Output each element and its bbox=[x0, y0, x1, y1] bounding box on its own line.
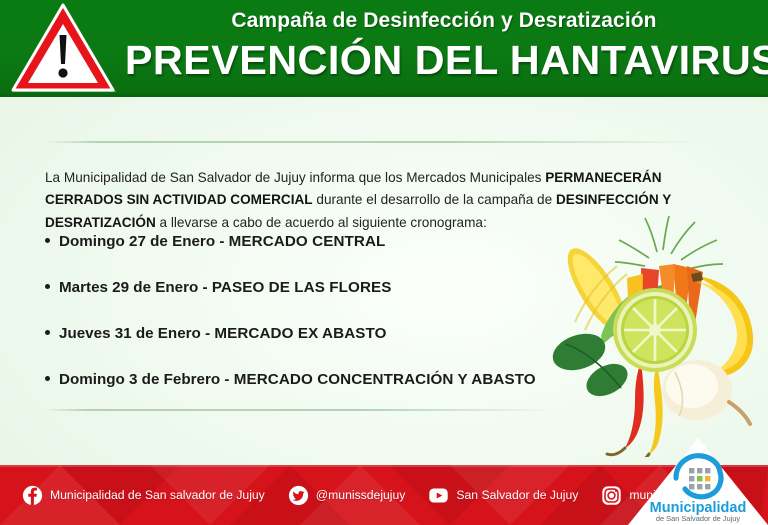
list-item: Domingo 27 de Enero - MERCADO CENTRAL bbox=[45, 233, 565, 279]
bullet-icon bbox=[45, 238, 50, 243]
divider-bottom bbox=[45, 409, 560, 411]
header-text-block: Campaña de Desinfección y Desratización … bbox=[128, 6, 760, 84]
header-title: PREVENCIÓN DEL HANTAVIRUS bbox=[125, 36, 763, 84]
social-label-facebook: Municipalidad de San salvador de Jujuy bbox=[50, 488, 265, 502]
social-link-twitter[interactable]: @munissdejujuy bbox=[288, 485, 406, 506]
social-label-youtube: San Salvador de Jujuy bbox=[456, 488, 578, 502]
poster-header: Campaña de Desinfección y Desratización … bbox=[0, 0, 768, 97]
corn-icon bbox=[557, 240, 637, 339]
paragraph-part-2: durante el desarrollo de la campaña de bbox=[313, 192, 556, 207]
carrots-icon bbox=[659, 264, 703, 354]
list-item: Martes 29 de Enero - PASEO DE LAS FLORES bbox=[45, 279, 565, 325]
facebook-icon[interactable] bbox=[22, 485, 43, 506]
schedule-place: MERCADO CONCENTRACIÓN Y ABASTO bbox=[234, 371, 536, 388]
paragraph-part-3: a llevarse a cabo de acuerdo al siguient… bbox=[156, 215, 487, 230]
poster-body: La Municipalidad de San Salvador de Juju… bbox=[0, 97, 768, 465]
logo-subtitle: de San Salvador de Jujuy bbox=[656, 514, 741, 523]
schedule-place: MERCADO CENTRAL bbox=[229, 233, 386, 250]
bullet-icon bbox=[45, 330, 50, 335]
schedule-place: PASEO DE LAS FLORES bbox=[212, 279, 392, 296]
logo-grid-icon bbox=[689, 468, 710, 489]
banana-icon bbox=[691, 272, 753, 378]
list-item: Jueves 31 de Enero - MERCADO EX ABASTO bbox=[45, 325, 565, 371]
schedule-day: Jueves 31 de Enero bbox=[59, 325, 201, 342]
schedule-separator: - bbox=[224, 371, 229, 388]
schedule-list: Domingo 27 de Enero - MERCADO CENTRAL Ma… bbox=[45, 233, 565, 417]
social-link-facebook[interactable]: Municipalidad de San salvador de Jujuy bbox=[22, 485, 265, 506]
bullet-icon bbox=[45, 284, 50, 289]
youtube-icon[interactable] bbox=[428, 485, 449, 506]
instagram-icon[interactable] bbox=[601, 485, 622, 506]
social-links-row: Municipalidad de San salvador de Jujuy @… bbox=[22, 465, 695, 525]
municipalidad-logo: Municipalidad de San Salvador de Jujuy bbox=[628, 438, 768, 525]
warning-triangle-icon bbox=[8, 2, 120, 97]
twitter-icon[interactable] bbox=[288, 485, 309, 506]
vegetables-illustration bbox=[545, 212, 768, 457]
paragraph-part-1: La Municipalidad de San Salvador de Juju… bbox=[45, 170, 545, 185]
schedule-day: Domingo 27 de Enero bbox=[59, 233, 215, 250]
bullet-icon bbox=[45, 376, 50, 381]
poster: Campaña de Desinfección y Desratización … bbox=[0, 0, 768, 525]
social-link-youtube[interactable]: San Salvador de Jujuy bbox=[428, 485, 578, 506]
header-subtitle: Campaña de Desinfección y Desratización bbox=[128, 6, 760, 36]
divider-top bbox=[45, 141, 705, 143]
lime-slice-icon bbox=[613, 288, 697, 372]
schedule-separator: - bbox=[219, 233, 224, 250]
schedule-separator: - bbox=[203, 279, 208, 296]
schedule-day: Domingo 3 de Febrero bbox=[59, 371, 220, 388]
schedule-place: MERCADO EX ABASTO bbox=[214, 325, 386, 342]
schedule-day: Martes 29 de Enero bbox=[59, 279, 198, 296]
schedule-separator: - bbox=[205, 325, 210, 342]
social-label-twitter: @munissdejujuy bbox=[316, 488, 406, 502]
onion-icon bbox=[662, 360, 750, 424]
info-paragraph: La Municipalidad de San Salvador de Juju… bbox=[45, 167, 695, 235]
